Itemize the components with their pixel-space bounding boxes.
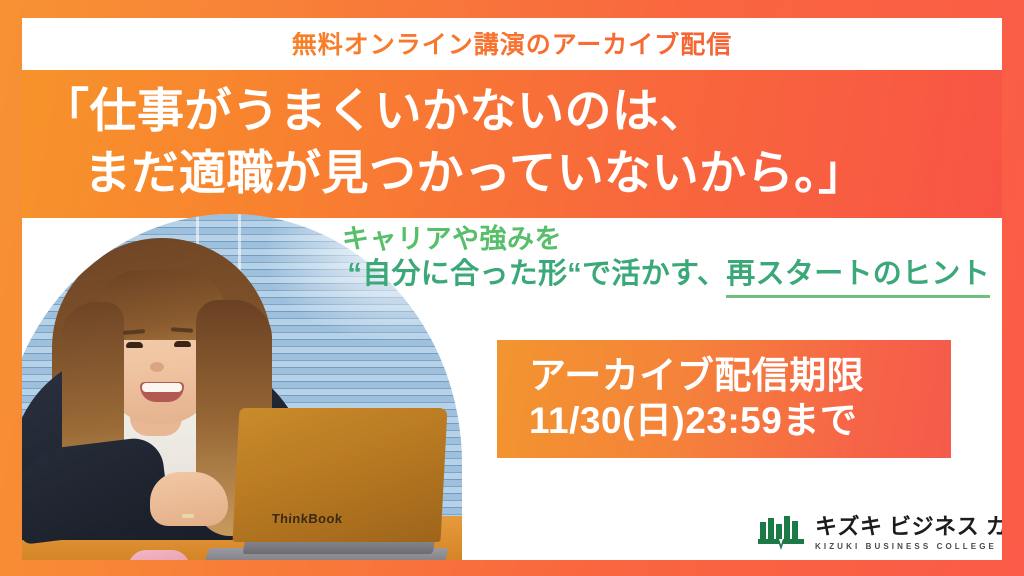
deadline-value: 11/30(日)23:59まで [529,398,951,443]
subheading-underlined: 再スタートのヒント [726,258,990,298]
wall-highlight [262,214,462,344]
person-eye-left [126,342,143,348]
archive-deadline-box: アーカイブ配信期限 11/30(日)23:59まで [497,340,951,458]
laptop-lid: ThinkBook [232,408,447,542]
logo-wordmark: キズキ ビジネス カレッジ KIZUKI BUSINESS COLLEGE [815,516,1002,551]
kicker-text: 無料オンライン講演のアーカイブ配信 [22,32,1002,60]
person-nose [150,362,164,372]
banner-card: 無料オンライン講演のアーカイブ配信 「仕事がうまくいかないのは、 まだ適職が見つ… [22,18,1002,560]
person-teeth [142,383,182,392]
presenter-photo: ThinkBook [22,214,462,560]
person-smile [140,382,184,402]
person-eye-right [174,341,191,347]
logo-name-jp: キズキ ビジネス カレッジ [815,516,1002,538]
headline-line-2: まだ適職が見つかっていないから。」 [42,142,986,204]
finger-ring [182,514,194,518]
promo-banner: 無料オンライン講演のアーカイブ配信 「仕事がうまくいかないのは、 まだ適職が見つ… [0,0,1024,576]
headline-line-1: 「仕事がうまくいかないのは、 [42,80,986,142]
laptop-brand-label: ThinkBook [271,511,343,526]
brand-logo: キズキ ビジネス カレッジ KIZUKI BUSINESS COLLEGE [758,514,1002,552]
person-arm [22,435,171,545]
computer-mouse [128,550,190,560]
open-book-icon [758,514,804,552]
headline-band: 「仕事がうまくいかないのは、 まだ適職が見つかっていないから。」 [22,70,1002,218]
photo-clip-arch: ThinkBook [22,214,462,560]
logo-name-en: KIZUKI BUSINESS COLLEGE [815,543,1002,551]
deadline-label: アーカイブ配信期限 [529,353,951,398]
